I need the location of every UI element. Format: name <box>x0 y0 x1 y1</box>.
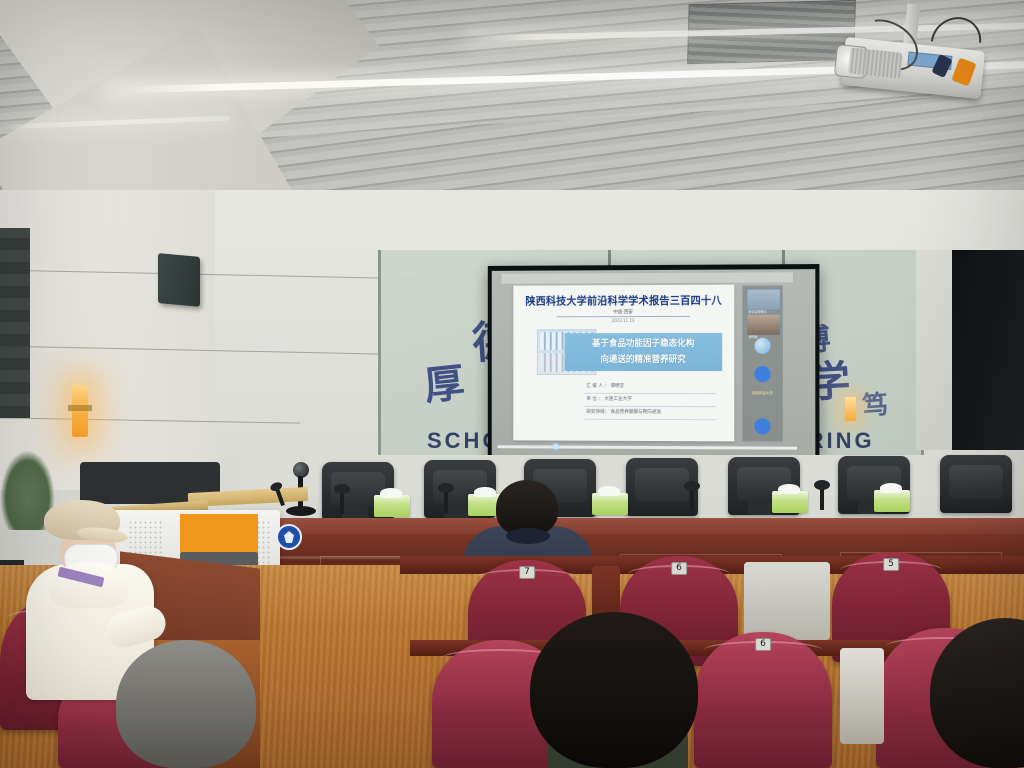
audience-head-grey-hair <box>116 640 256 768</box>
shirt-collar <box>506 528 550 544</box>
screen-bottom-bar <box>498 445 797 449</box>
calligraphy-char-1: 厚 <box>421 350 467 412</box>
tissue-box-5 <box>874 490 910 512</box>
left-wall <box>0 190 215 490</box>
wall-sconce-bracket <box>68 405 92 411</box>
left-dark-column <box>0 228 30 418</box>
university-emblem-icon <box>276 524 302 550</box>
desk-microphone-1 <box>340 492 344 514</box>
desk-microphone-4 <box>820 488 824 510</box>
slide-speaker-info: 汇 报 人 ： 谭明堂 单 位 ： 大连工业大学 研究领域： 食品营养健康与靶向… <box>584 381 716 420</box>
meeting-participant-sidebar[interactable]: 会议室摄像头 谭明堂 陕西科技大学 <box>742 285 782 441</box>
screen-top-bar <box>502 272 793 283</box>
audience-head-center <box>530 612 698 768</box>
wall-speaker-icon <box>158 253 200 307</box>
participant-avatar-1[interactable] <box>754 338 770 354</box>
calligraphy-char-5: 笃 <box>861 384 890 423</box>
wall-sconce-light <box>72 385 88 437</box>
presentation-slide: 陕西科技大学前沿科学学术报告三百四十八 中国·西安 2023.11.13 基于食… <box>513 285 734 442</box>
seat-number-7: 7 <box>519 566 535 579</box>
slide-date: 2023.11.13 <box>518 318 729 324</box>
wall-sconce-light-right <box>845 397 856 421</box>
audience-seat-front-6[interactable]: 6 <box>694 632 832 768</box>
seat-number-6: 6 <box>671 562 687 575</box>
participant-avatar-2[interactable] <box>754 366 770 382</box>
right-dark-wall <box>952 250 1024 450</box>
participant-thumbnail-speaker[interactable] <box>746 314 780 336</box>
tissue-box-3 <box>592 493 628 515</box>
slide-info-affiliation: 单 位 ： 大连工业大学 <box>584 394 716 407</box>
projection-screen: 陕西科技大学前沿科学学术报告三百四十八 中国·西安 2023.11.13 基于食… <box>492 269 816 459</box>
panel-chair-base-5 <box>748 501 774 515</box>
participant-caption-speaker: 谭明堂 <box>748 335 757 339</box>
participant-thumbnail-room[interactable] <box>746 288 780 310</box>
podium-front-panel <box>180 514 258 552</box>
desk-microphone-3 <box>690 489 694 511</box>
slide-info-research-area: 研究领域： 食品营养健康与靶向递送 <box>584 407 716 420</box>
seat-number-5: 5 <box>883 558 899 571</box>
seat-armrest-front <box>840 648 884 744</box>
lecture-hall-photo: 厚 德 博 学 笃 SCHOOL ERING 陕西科技大学前沿科学学术报告三百四… <box>0 0 1024 768</box>
seat-divider-desk <box>744 562 830 640</box>
participant-avatar-3[interactable] <box>754 418 770 434</box>
desk-microphone-2 <box>444 491 448 513</box>
seat-number-front-6: 6 <box>755 638 771 651</box>
slide-location: 中国·西安 <box>518 309 729 316</box>
right-wall-panel <box>916 250 956 450</box>
panel-chair-7 <box>940 455 1012 513</box>
participant-highlight-name: 陕西科技大学 <box>745 390 779 395</box>
slide-topic-line-1: 基于食品功能因子稳态化构 <box>568 337 718 352</box>
slide-topic-line-2: 向递送的精准营养研究 <box>568 353 718 368</box>
projection-screen-frame: 陕西科技大学前沿科学学术报告三百四十八 中国·西安 2023.11.13 基于食… <box>488 264 820 464</box>
tissue-box-1 <box>374 495 410 517</box>
tissue-box-4 <box>772 491 808 513</box>
slide-title: 陕西科技大学前沿科学学术报告三百四十八 <box>521 293 726 309</box>
slide-info-presenter: 汇 报 人 ： 谭明堂 <box>584 381 716 394</box>
camera-base <box>286 506 316 516</box>
slide-topic-banner: 基于食品功能因子稳态化构 向递送的精准营养研究 <box>565 333 723 371</box>
screen-progress-dot <box>553 444 559 450</box>
